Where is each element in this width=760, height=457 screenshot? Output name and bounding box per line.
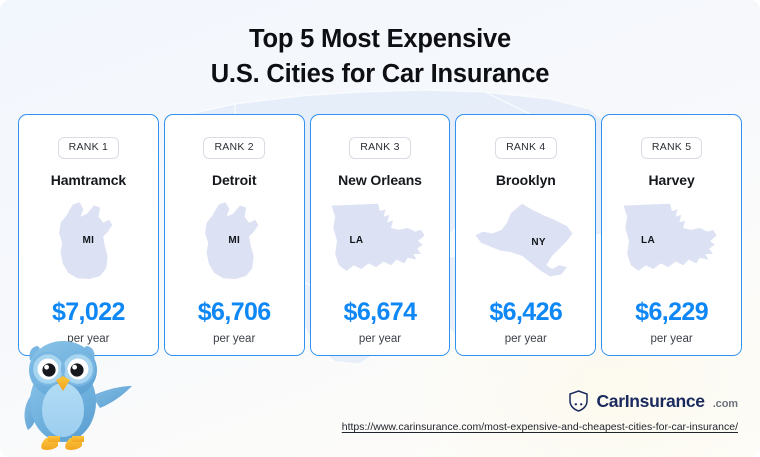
infographic-canvas: Top 5 Most Expensive U.S. Cities for Car… [0, 0, 760, 457]
rank-badge: RANK 2 [203, 137, 264, 159]
ranking-card: RANK 1 Hamtramck MI $7,022 per year [18, 114, 159, 356]
city-name: Detroit [212, 172, 256, 188]
ranking-cards-row: RANK 1 Hamtramck MI $7,022 per year RANK… [18, 114, 742, 356]
rank-badge: RANK 1 [58, 137, 119, 159]
state-abbreviation: LA [641, 235, 655, 246]
state-shape-louisiana-icon: LA [311, 200, 450, 282]
price-period: per year [213, 333, 255, 345]
state-abbreviation: NY [531, 237, 546, 248]
state-abbreviation: MI [83, 235, 95, 246]
city-name: New Orleans [338, 172, 422, 188]
price-period: per year [505, 333, 547, 345]
rank-badge: RANK 3 [349, 137, 410, 159]
state-abbreviation: LA [349, 235, 363, 246]
logo-wordmark: CarInsurance [596, 391, 704, 412]
city-name: Harvey [649, 172, 695, 188]
ranking-card: RANK 4 Brooklyn NY $6,426 per year [455, 114, 596, 356]
state-shape-michigan-icon: MI [165, 200, 304, 282]
city-name: Brooklyn [496, 172, 556, 188]
annual-price: $6,426 [489, 300, 562, 325]
logo-tld: .com [713, 398, 738, 412]
rank-badge: RANK 4 [495, 137, 556, 159]
annual-price: $6,706 [198, 300, 271, 325]
state-shape-louisiana-icon: LA [602, 200, 741, 282]
annual-price: $7,022 [52, 300, 125, 325]
price-period: per year [359, 333, 401, 345]
annual-price: $6,674 [344, 300, 417, 325]
title-line-1: Top 5 Most Expensive [0, 22, 760, 57]
ranking-card: RANK 2 Detroit MI $6,706 per year [164, 114, 305, 356]
brand-logo[interactable]: CarInsurance .com [568, 390, 738, 412]
page-title: Top 5 Most Expensive U.S. Cities for Car… [0, 22, 760, 92]
state-abbreviation: MI [228, 235, 240, 246]
state-shape-michigan-icon: MI [19, 200, 158, 282]
rank-badge: RANK 5 [641, 137, 702, 159]
annual-price: $6,229 [635, 300, 708, 325]
owl-mascot-icon [8, 334, 140, 457]
ranking-card: RANK 5 Harvey LA $6,229 per year [601, 114, 742, 356]
title-line-2: U.S. Cities for Car Insurance [0, 57, 760, 92]
ranking-card: RANK 3 New Orleans LA $6,674 per year [310, 114, 451, 356]
source-url-link[interactable]: https://www.carinsurance.com/most-expens… [342, 421, 738, 433]
shield-car-icon [568, 390, 589, 412]
city-name: Hamtramck [51, 172, 126, 188]
price-period: per year [650, 333, 692, 345]
state-shape-newyork-icon: NY [456, 200, 595, 282]
